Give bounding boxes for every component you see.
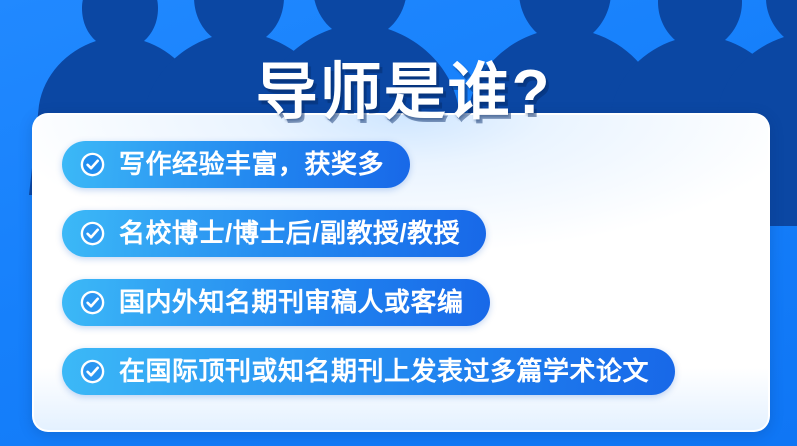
check-circle-icon xyxy=(79,358,106,385)
feature-item-4[interactable]: 在国际顶刊或知名期刊上发表过多篇学术论文 xyxy=(62,348,675,395)
promo-poster: 导师是谁? 写作经验丰富，获奖多 名校博士/博士后/副教授/教授 xyxy=(0,0,797,446)
check-circle-icon xyxy=(79,289,106,316)
feature-label: 名校博士/博士后/副教授/教授 xyxy=(119,220,460,248)
page-title-wrapper: 导师是谁? xyxy=(0,18,797,168)
feature-label: 在国际顶刊或知名期刊上发表过多篇学术论文 xyxy=(119,358,649,386)
feature-item-2[interactable]: 名校博士/博士后/副教授/教授 xyxy=(62,210,486,257)
feature-item-3[interactable]: 国内外知名期刊审稿人或客编 xyxy=(62,279,490,326)
check-circle-icon xyxy=(79,220,106,247)
page-title: 导师是谁? xyxy=(246,60,552,127)
feature-label: 国内外知名期刊审稿人或客编 xyxy=(119,289,464,317)
